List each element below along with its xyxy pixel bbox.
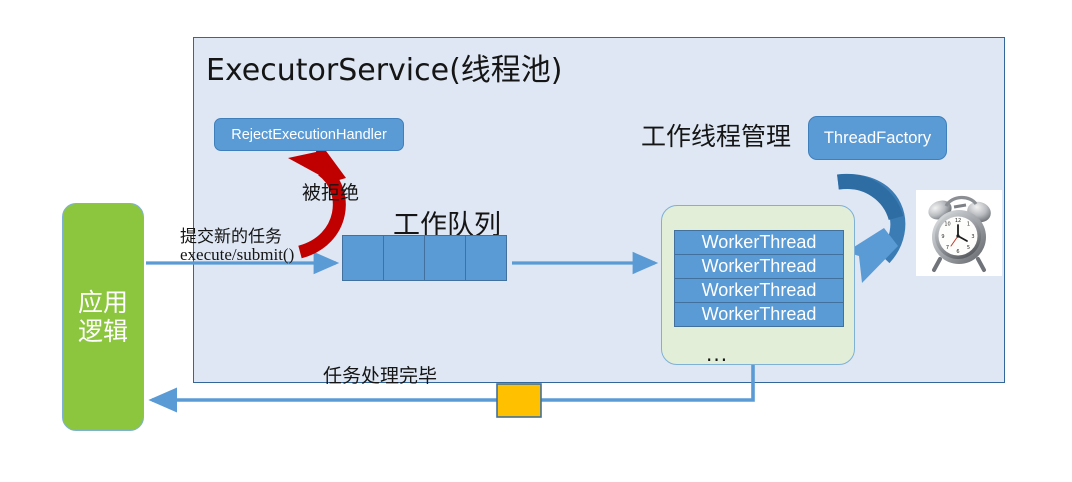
queue-cell[interactable] — [465, 235, 507, 281]
thread-factory-box[interactable]: ThreadFactory — [808, 116, 947, 160]
reject-execution-handler-box[interactable]: RejectExecutionHandler — [214, 118, 404, 151]
app-logic-box[interactable]: 应用 逻辑 — [62, 203, 144, 431]
app-logic-line2: 逻辑 — [78, 317, 128, 347]
svg-text:7: 7 — [946, 245, 949, 251]
app-logic-line1: 应用 — [78, 288, 128, 318]
diagram-canvas: ExecutorService(线程池) — [0, 0, 1072, 482]
worker-thread-list: WorkerThread WorkerThread WorkerThread W… — [674, 230, 844, 327]
svg-text:12: 12 — [955, 218, 961, 224]
svg-text:5: 5 — [967, 245, 970, 251]
queue-cell[interactable] — [342, 235, 384, 281]
executor-service-title: ExecutorService(线程池) — [206, 45, 562, 89]
worker-thread-pool: WorkerThread WorkerThread WorkerThread W… — [661, 205, 855, 365]
submit-task-label: 提交新的任务 — [180, 222, 282, 247]
svg-text:9: 9 — [941, 234, 944, 240]
submit-method-label: execute/submit() — [180, 245, 294, 265]
svg-text:6: 6 — [956, 249, 959, 255]
return-marker — [497, 384, 541, 417]
worker-thread-row[interactable]: WorkerThread — [674, 278, 844, 303]
svg-text:10: 10 — [944, 222, 950, 228]
task-done-label: 任务处理完毕 — [323, 361, 437, 388]
queue-cell[interactable] — [424, 235, 466, 281]
svg-text:1: 1 — [967, 222, 970, 228]
worker-management-label: 工作线程管理 — [641, 117, 791, 153]
work-queue — [342, 235, 507, 281]
worker-thread-row[interactable]: WorkerThread — [674, 254, 844, 279]
worker-thread-row[interactable]: WorkerThread — [674, 230, 844, 255]
alarm-clock-icon: 12 1 3 5 6 7 9 10 — [916, 190, 1002, 276]
worker-thread-row[interactable]: WorkerThread — [674, 302, 844, 327]
worker-more-indicator: ... — [706, 342, 728, 366]
svg-text:3: 3 — [971, 234, 974, 240]
queue-cell[interactable] — [383, 235, 425, 281]
rejected-label: 被拒绝 — [302, 178, 359, 205]
